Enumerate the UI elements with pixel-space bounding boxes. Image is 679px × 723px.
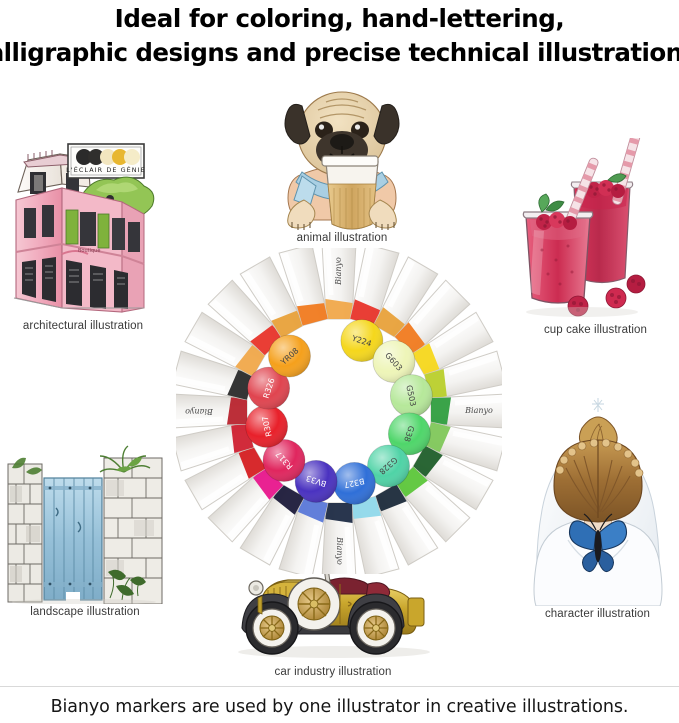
marker-wheel-artwork: BianyoBianyoBianyoBianyo Y224G603G503G38… — [176, 248, 502, 574]
landscape-artwork — [4, 436, 166, 604]
marker-barrel: Bianyo — [431, 394, 502, 428]
marker-cap: G503 — [390, 375, 432, 417]
caption-car: car industry illustration — [222, 666, 444, 678]
marker-brand-label: Bianyo — [335, 536, 344, 565]
marker-brand-label: Bianyo — [464, 406, 493, 415]
character-artwork — [516, 398, 679, 606]
animal-artwork — [258, 84, 426, 230]
marker-brand-label: Bianyo — [185, 407, 214, 416]
headline-line-2: calligraphic designs and precise technic… — [0, 36, 679, 70]
marker-barrel: Bianyo — [322, 248, 356, 319]
caption-landscape: landscape illustration — [4, 606, 166, 618]
svg-text:Boutique: Boutique — [78, 248, 100, 254]
illustration-character: character illustration — [516, 398, 679, 626]
footer-divider — [0, 686, 679, 687]
architectural-artwork: L'ÉCLAIR DE GÉNIE — [4, 132, 162, 318]
illustration-animal: animal illustration — [258, 84, 426, 252]
caption-character: character illustration — [516, 608, 679, 620]
illustration-architectural: L'ÉCLAIR DE GÉNIE — [4, 132, 162, 342]
marker-barrel: Bianyo — [176, 394, 247, 428]
cupcake-artwork — [512, 138, 679, 320]
marker-cap: B327 — [333, 462, 375, 504]
caption-animal: animal illustration — [258, 232, 426, 244]
marker-brand-label: Bianyo — [334, 257, 343, 286]
caption-cupcake: cup cake illustration — [512, 324, 679, 336]
footer: Bianyo markers are used by one illustrat… — [0, 691, 679, 723]
illustration-landscape: landscape illustration — [4, 436, 166, 628]
marker-cap: R307 — [246, 405, 288, 447]
footer-text: Bianyo markers are used by one illustrat… — [51, 697, 629, 717]
marker-cap: YR08 — [268, 335, 310, 377]
illustration-marker-wheel: BianyoBianyoBianyoBianyo Y224G603G503G38… — [176, 248, 502, 574]
illustration-cupcake: cup cake illustration — [512, 138, 679, 344]
marker-barrel: Bianyo — [322, 503, 356, 574]
headline-line-1: Ideal for coloring, hand-lettering, — [115, 2, 565, 36]
caption-architectural: architectural illustration — [4, 320, 162, 332]
building-sign-text: L'ÉCLAIR DE GÉNIE — [66, 165, 146, 174]
infographic-root: Ideal for coloring, hand-lettering, call… — [0, 0, 679, 723]
headline: Ideal for coloring, hand-lettering, call… — [0, 0, 679, 72]
